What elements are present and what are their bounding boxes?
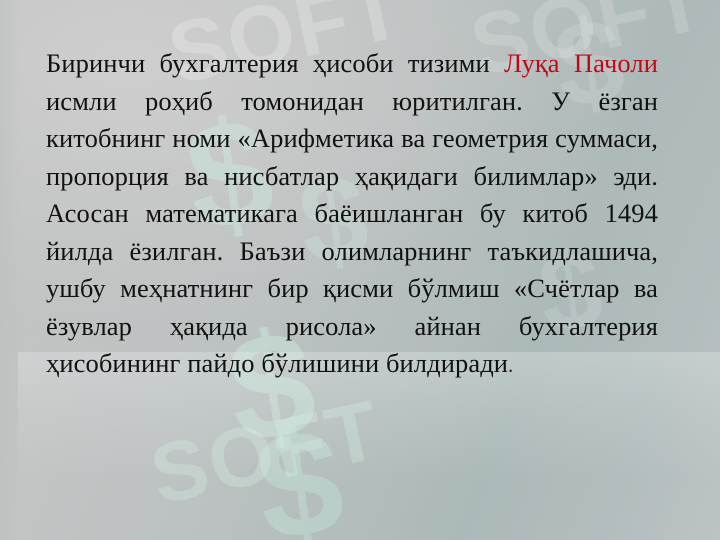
sentence-end-period: . <box>508 355 513 377</box>
slide-left-edge-shade <box>0 0 20 540</box>
body-text-segment: Биринчи бухгалтерия ҳисоби тизими <box>46 48 504 78</box>
highlighted-name: Луқа Пачоли <box>504 48 658 78</box>
dollar-watermark-icon: $ <box>246 393 353 540</box>
slide-body-paragraph: Биринчи бухгалтерия ҳисоби тизими Луқа П… <box>46 45 658 386</box>
presentation-slide: SOFT SOFT SOFT $ $ $ $ $ $ Биринчи бухга… <box>0 0 720 540</box>
soft-watermark-text: SOFT <box>142 381 389 524</box>
body-text-segment: исмли роҳиб томонидан юритилган. У ёзган… <box>46 86 658 379</box>
